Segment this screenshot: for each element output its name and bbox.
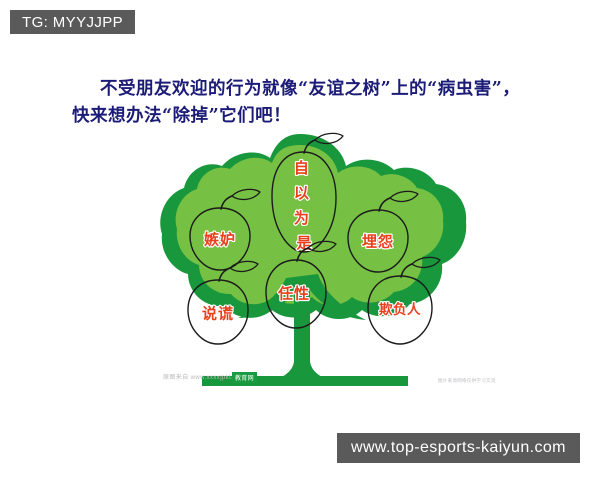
apple-label-bullying: 欺负人 bbox=[379, 301, 421, 318]
page-title: 不受朋友欢迎的行为就像“友谊之树”上的“病虫害”， 快来想办法“除掉”它们吧！ bbox=[72, 76, 552, 130]
slide-canvas: TG: MYYJJPP 不受朋友欢迎的行为就像“友谊之树”上的“病虫害”， 快来… bbox=[0, 0, 600, 480]
site-url-watermark-badge: www.top-esports-kaiyun.com bbox=[337, 433, 580, 463]
apple-label-lying: 说谎 bbox=[202, 305, 234, 323]
source-watermark-right: 图片来源网络仅供学习交流 bbox=[438, 378, 496, 384]
apple-label-jealousy: 嫉妒 bbox=[204, 231, 236, 249]
apple-label-willful: 任性 bbox=[277, 285, 310, 303]
apple-label-complain: 埋怨 bbox=[362, 233, 394, 251]
source-watermark-chip: 教育网 bbox=[232, 372, 257, 383]
friendship-tree-illustration: 嫉妒 自 以 为 是 埋怨 bbox=[128, 128, 472, 400]
page-title-line-1: 不受朋友欢迎的行为就像“友谊之树”上的“病虫害”， bbox=[72, 76, 552, 103]
telegram-watermark-text: TG: MYYJJPP bbox=[22, 14, 123, 31]
telegram-watermark-badge: TG: MYYJJPP bbox=[10, 10, 135, 34]
site-url-watermark-text: www.top-esports-kaiyun.com bbox=[351, 439, 566, 457]
page-title-line-2: 快来想办法“除掉”它们吧！ bbox=[72, 103, 552, 130]
